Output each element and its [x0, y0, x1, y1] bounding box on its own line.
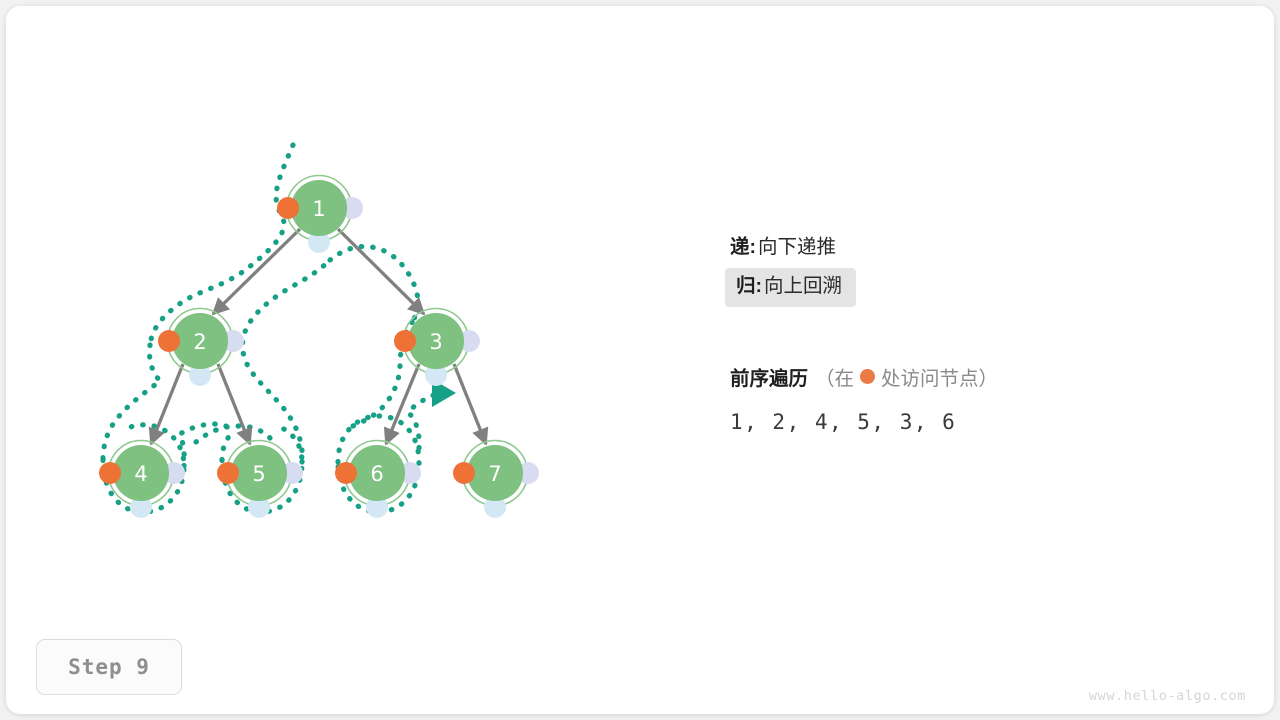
tree-nodes: 1234567 [99, 176, 539, 519]
traversal-title: 前序遍历 （在 处访问节点） [730, 362, 1200, 391]
legend-panel: 递: 向下递推 归: 向上回溯 [727, 238, 1187, 307]
traversal-title-prefix: （在 [815, 362, 854, 391]
trail-n2-to-n5 [196, 426, 270, 442]
tree-node-5: 5 [217, 441, 303, 519]
node-visit-dot-icon [394, 330, 416, 352]
node-label: 3 [429, 330, 442, 354]
step-badge: Step 9 [36, 639, 182, 695]
edge-n3-n7 [454, 364, 486, 444]
node-label: 2 [193, 330, 206, 354]
legend-recurse-value: 向下递推 [758, 238, 836, 258]
node-visit-dot-icon [99, 462, 121, 484]
node-label: 6 [370, 462, 383, 486]
edge-n3-n6 [386, 364, 419, 444]
node-visit-dot-icon [453, 462, 475, 484]
traversal-sequence: 1, 2, 4, 5, 3, 6 [730, 410, 1200, 434]
tree-node-6: 6 [335, 441, 421, 519]
trail-root-to-n3 [330, 247, 418, 323]
node-label: 5 [252, 462, 265, 486]
tree-node-2: 2 [158, 309, 244, 387]
edge-n1-n2 [213, 229, 300, 314]
edge-n1-n3 [338, 229, 424, 314]
traversal-order-block: 前序遍历 （在 处访问节点） 1, 2, 4, 5, 3, 6 [730, 362, 1200, 434]
trail-root-descend [150, 145, 293, 345]
legend-item-backtrack: 归: 向上回溯 [725, 268, 856, 308]
tree-node-4: 4 [99, 441, 185, 519]
legend-backtrack-key: 归: [736, 277, 762, 297]
traversal-title-main: 前序遍历 [730, 362, 808, 391]
watermark: www.hello-algo.com [1089, 688, 1246, 704]
legend-recurse-key: 递: [730, 238, 756, 258]
trail-n5-ascend [243, 260, 330, 462]
tree-node-3: 3 [394, 309, 480, 387]
node-label: 7 [488, 462, 501, 486]
traversal-title-suffix: 处访问节点） [881, 362, 998, 391]
node-visit-dot-icon [335, 462, 357, 484]
legend-item-recurse: 递: 向下递推 [730, 238, 1187, 258]
tree-diagram: 1234567 [0, 0, 1280, 720]
orange-visit-dot-icon [860, 369, 875, 384]
node-visit-dot-icon [158, 330, 180, 352]
trail-n6-return [408, 394, 436, 448]
node-visit-dot-icon [277, 197, 299, 219]
tree-node-7: 7 [453, 441, 539, 519]
node-visit-dot-icon [217, 462, 239, 484]
legend-backtrack-value: 向上回溯 [764, 277, 842, 297]
slide-canvas: 1234567 递: 向下递推 归: 向上回溯 前序遍历 （在 处访问节点） 1… [0, 0, 1280, 720]
edge-n2-n5 [218, 364, 250, 444]
node-label: 4 [134, 462, 147, 486]
node-label: 1 [312, 197, 325, 221]
